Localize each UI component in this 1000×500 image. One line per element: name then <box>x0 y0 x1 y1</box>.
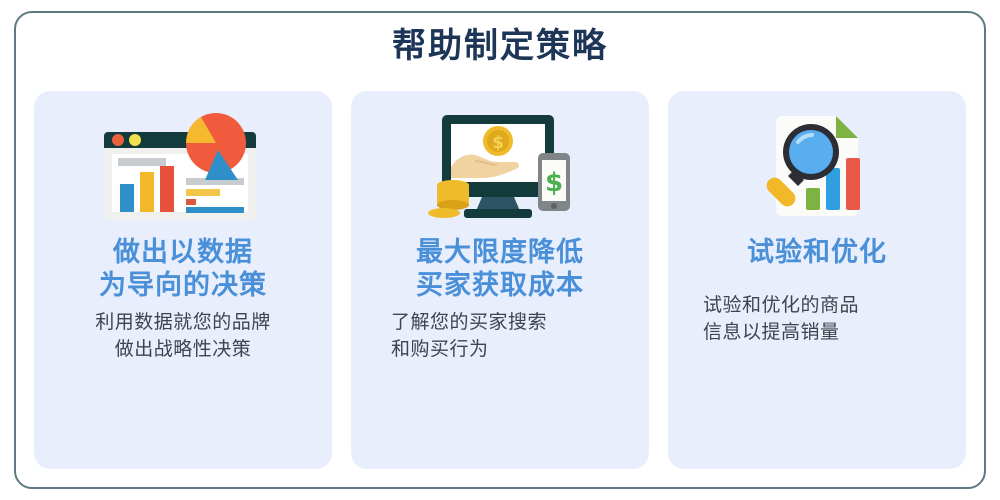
svg-text:$: $ <box>492 133 504 153</box>
dashboard-analytics-icon <box>48 109 318 229</box>
card-title: 做出以数据 为导向的决策 <box>99 237 267 303</box>
page-title: 帮助制定策略 <box>16 29 984 63</box>
card-title: 最大限度降低 买家获取成本 <box>416 237 584 303</box>
magnifier-report-icon <box>682 109 952 229</box>
card-body-line-2: 信息以提高销量 <box>703 319 931 347</box>
card-body: 利用数据就您的品牌 做出战略性决策 <box>67 309 299 364</box>
card-title-line-1: 最大限度降低 <box>416 237 584 270</box>
card-body-line-1: 利用数据就您的品牌 <box>67 309 299 337</box>
card-body: 了解您的买家搜索 和购买行为 <box>391 309 609 364</box>
card-title-line-2: 为导向的决策 <box>99 270 267 303</box>
card-title-line-1: 做出以数据 <box>99 237 267 270</box>
card-title-line-2: 买家获取成本 <box>416 270 584 303</box>
card-data-driven-decisions[interactable]: 做出以数据 为导向的决策 利用数据就您的品牌 做出战略性决策 <box>34 91 332 469</box>
infographic-page: 帮助制定策略 <box>0 0 1000 500</box>
svg-text:$: $ <box>545 168 563 198</box>
card-row: 做出以数据 为导向的决策 利用数据就您的品牌 做出战略性决策 <box>34 91 966 469</box>
card-lower-acquisition-cost[interactable]: $ $ 最大限度降低 买家获取成本 了解 <box>351 91 649 469</box>
card-body-line-2: 和购买行为 <box>391 336 609 364</box>
card-body-line-1: 试验和优化的商品 <box>703 292 931 320</box>
card-body: 试验和优化的商品 信息以提高销量 <box>703 292 931 347</box>
monitor-hand-coin-icon: $ $ <box>365 109 635 229</box>
card-body-line-1: 了解您的买家搜索 <box>391 309 609 337</box>
card-body-line-2: 做出战略性决策 <box>67 336 299 364</box>
card-title-line-1: 试验和优化 <box>747 237 887 270</box>
page-frame: 帮助制定策略 <box>14 11 986 489</box>
card-title: 试验和优化 <box>747 237 887 270</box>
card-test-and-optimize[interactable]: 试验和优化 试验和优化的商品 信息以提高销量 <box>668 91 966 469</box>
